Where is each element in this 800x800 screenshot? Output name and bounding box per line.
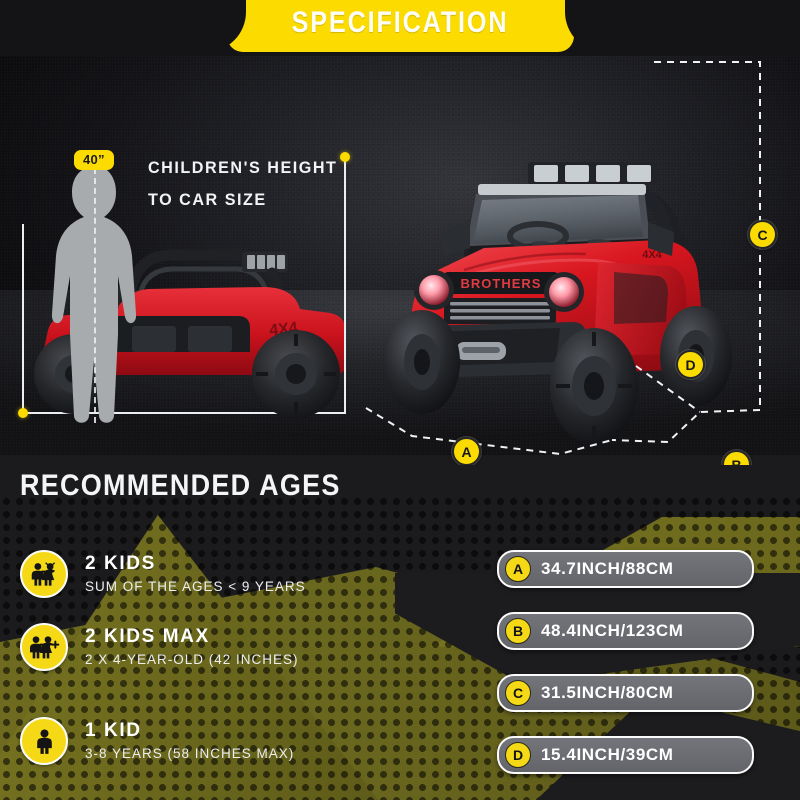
dimension-pill-a: A 34.7INCH/88CM <box>497 550 754 588</box>
dimension-pill-d: D 15.4INCH/39CM <box>497 736 754 774</box>
dimension-marker-a: A <box>452 437 481 465</box>
age-subtitle: SUM OF THE AGES < 9 YEARS <box>85 577 306 596</box>
dimension-line-b <box>612 410 760 442</box>
dimension-pill-b: B 48.4INCH/123CM <box>497 612 754 650</box>
dimension-pill-letter: C <box>505 680 531 706</box>
dimension-marker-d: D <box>676 350 705 379</box>
recommended-ages-panel: RECOMMENDED AGES 2 KIDS SUM OF THE AGES … <box>0 455 800 800</box>
dimension-pill-letter: D <box>505 742 531 768</box>
section-title-recommended-ages: RECOMMENDED AGES <box>20 469 341 503</box>
dimension-line-c <box>654 62 760 410</box>
age-text-block: 1 KID 3-8 YEARS (58 INCHES MAX) <box>85 720 294 763</box>
headline-line-2: TO CAR SIZE <box>148 184 337 216</box>
age-title: 1 KID <box>85 720 294 741</box>
header-banner: SPECIFICATION <box>0 0 800 56</box>
two-kids-glyph <box>29 562 59 586</box>
age-row-two-kids: 2 KIDS SUM OF THE AGES < 9 YEARS <box>20 550 306 598</box>
two-kids-icon <box>20 550 68 598</box>
age-title: 2 KIDS MAX <box>85 626 299 647</box>
two-kids-plus-icon <box>20 623 68 671</box>
age-title: 2 KIDS <box>85 553 306 574</box>
specification-infographic: SPECIFICATION <box>0 0 800 800</box>
dimension-pill-value: 34.7INCH/88CM <box>541 559 674 579</box>
hero-headline: CHILDREN'S HEIGHT TO CAR SIZE <box>148 152 337 216</box>
dimension-marker-c: C <box>748 220 777 249</box>
product-photo-stage: 4X4 <box>0 40 800 465</box>
dimension-pill-c: C 31.5INCH/80CM <box>497 674 754 712</box>
dimension-line-a <box>366 408 612 454</box>
height-dashed-line <box>94 168 96 423</box>
age-subtitle: 3-8 YEARS (58 INCHES MAX) <box>85 744 294 763</box>
dimension-pill-value: 15.4INCH/39CM <box>541 745 674 765</box>
age-text-block: 2 KIDS MAX 2 X 4-YEAR-OLD (42 INCHES) <box>85 626 299 669</box>
one-kid-icon <box>20 717 68 765</box>
dimension-pill-value: 48.4INCH/123CM <box>541 621 684 641</box>
height-badge: 40” <box>74 150 114 170</box>
age-row-one-kid: 1 KID 3-8 YEARS (58 INCHES MAX) <box>20 717 294 765</box>
two-kids-plus-glyph <box>28 635 60 659</box>
child-silhouette <box>48 164 144 426</box>
one-kid-glyph <box>35 729 54 754</box>
dimension-pill-letter: B <box>505 618 531 644</box>
dimension-pill-letter: A <box>505 556 531 582</box>
page-title: SPECIFICATION <box>64 6 736 40</box>
headline-line-1: CHILDREN'S HEIGHT <box>148 152 337 184</box>
age-subtitle: 2 X 4-YEAR-OLD (42 INCHES) <box>85 650 299 669</box>
age-text-block: 2 KIDS SUM OF THE AGES < 9 YEARS <box>85 553 306 596</box>
age-row-two-kids-max: 2 KIDS MAX 2 X 4-YEAR-OLD (42 INCHES) <box>20 623 299 671</box>
dimension-pill-value: 31.5INCH/80CM <box>541 683 674 703</box>
